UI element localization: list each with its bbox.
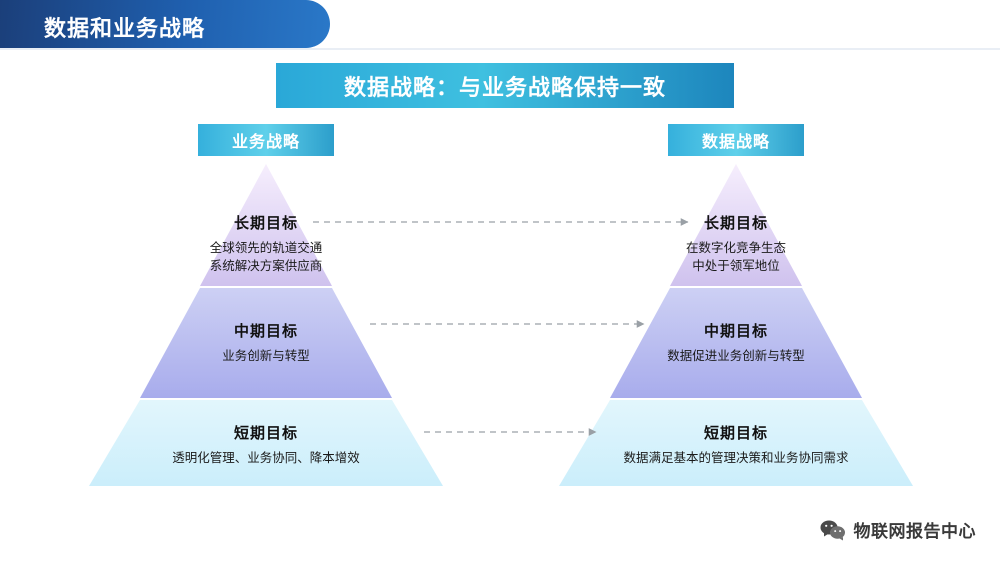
pyramid-left-tier-short-term: 短期目标 透明化管理、业务协同、降本增效 — [46, 422, 486, 467]
wechat-icon — [820, 519, 846, 541]
column-label-data-strategy: 数据战略 — [668, 124, 804, 156]
column-label-right-text: 数据战略 — [702, 128, 770, 152]
tier-body-long-term-right: 在数字化竞争生态 中处于领军地位 — [516, 239, 956, 275]
watermark-text: 物联网报告中心 — [854, 517, 977, 542]
pyramid-left-tier-mid-term: 中期目标 业务创新与转型 — [46, 320, 486, 365]
tier-head-short-term-left: 短期目标 — [46, 422, 486, 443]
tier-head-short-term-right: 短期目标 — [516, 422, 956, 443]
tier-head-mid-term-right: 中期目标 — [516, 320, 956, 341]
tier-body-mid-term-right: 数据促进业务创新与转型 — [516, 347, 956, 365]
pyramid-right-tier-long-term: 长期目标 在数字化竞争生态 中处于领军地位 — [516, 212, 956, 275]
column-label-left-text: 业务战略 — [232, 128, 300, 152]
header-divider — [0, 48, 1000, 50]
pyramid-right-tier-mid-term: 中期目标 数据促进业务创新与转型 — [516, 320, 956, 365]
page-title: 数据和业务战略 — [44, 11, 205, 43]
main-title-banner: 数据战略：与业务战略保持一致 — [276, 63, 734, 108]
footer-watermark: 物联网报告中心 — [820, 517, 977, 542]
pyramid-business-strategy: 长期目标 全球领先的轨道交通 系统解决方案供应商 中期目标 业务创新与转型 短期… — [46, 160, 486, 490]
tier-body-mid-term-left: 业务创新与转型 — [46, 347, 486, 365]
main-title-text: 数据战略：与业务战略保持一致 — [344, 70, 666, 102]
tier-head-long-term-right: 长期目标 — [516, 212, 956, 233]
tier-head-long-term-left: 长期目标 — [46, 212, 486, 233]
tier-body-short-term-left: 透明化管理、业务协同、降本增效 — [46, 449, 486, 467]
column-label-business-strategy: 业务战略 — [198, 124, 334, 156]
tier-body-short-term-right: 数据满足基本的管理决策和业务协同需求 — [516, 449, 956, 467]
tier-head-mid-term-left: 中期目标 — [46, 320, 486, 341]
page-header-bar: 数据和业务战略 — [0, 0, 330, 48]
pyramid-left-tier-long-term: 长期目标 全球领先的轨道交通 系统解决方案供应商 — [46, 212, 486, 275]
pyramid-data-strategy: 长期目标 在数字化竞争生态 中处于领军地位 中期目标 数据促进业务创新与转型 短… — [516, 160, 956, 490]
pyramid-right-tier-short-term: 短期目标 数据满足基本的管理决策和业务协同需求 — [516, 422, 956, 467]
tier-body-long-term-left: 全球领先的轨道交通 系统解决方案供应商 — [46, 239, 486, 275]
